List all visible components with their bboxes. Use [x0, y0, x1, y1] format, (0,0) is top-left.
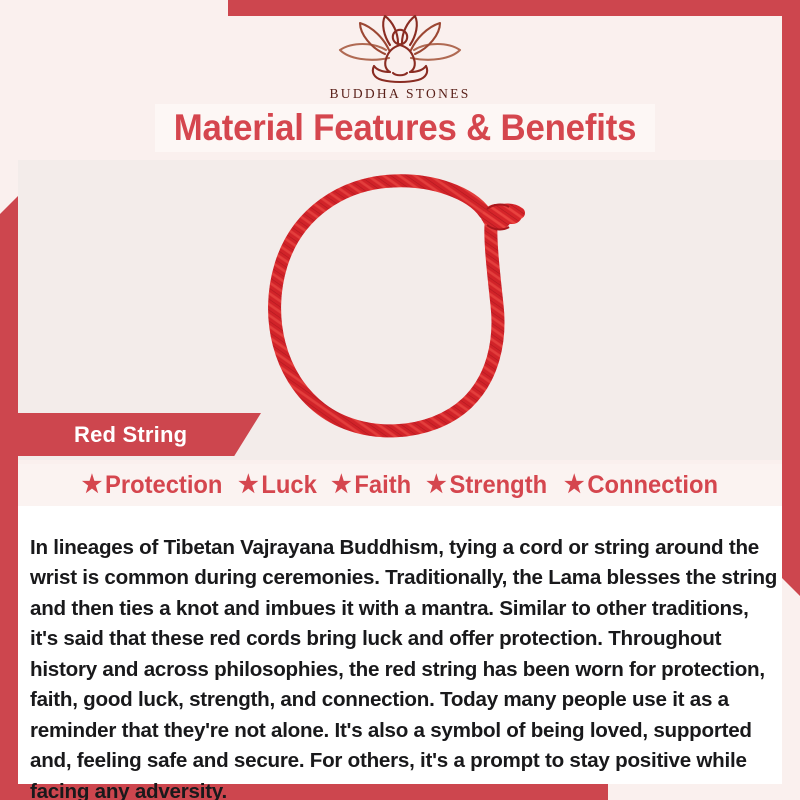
description-panel: In lineages of Tibetan Vajrayana Buddhis… [18, 506, 782, 784]
star-icon: ★ [331, 473, 351, 497]
benefit-label: Faith [354, 471, 411, 500]
benefit-item-strength: ★ Strength [426, 471, 547, 500]
infographic-page: BUDDHA STONES Material Features & Benefi… [0, 0, 800, 800]
benefit-label: Connection [588, 471, 719, 500]
star-icon: ★ [426, 473, 446, 497]
brand-name: BUDDHA STONES [0, 86, 800, 102]
star-icon: ★ [81, 473, 101, 497]
benefit-item-luck: ★ Luck [238, 471, 317, 500]
benefit-label: Luck [261, 471, 316, 500]
material-name: Red String [74, 422, 187, 448]
red-braided-bracelet-icon [235, 165, 565, 455]
star-icon: ★ [238, 473, 258, 497]
star-icon: ★ [564, 473, 584, 497]
description-text: In lineages of Tibetan Vajrayana Buddhis… [30, 533, 778, 800]
benefit-list: ★ Protection ★ Luck ★ Faith ★ Strength ★… [18, 464, 782, 506]
page-title: Material Features & Benefits [174, 107, 636, 149]
lotus-meditation-figure-icon [327, 14, 473, 84]
benefit-item-faith: ★ Faith [331, 471, 411, 500]
benefit-label: Protection [105, 471, 222, 500]
brand-logo: BUDDHA STONES [0, 14, 800, 102]
title-band: Material Features & Benefits [155, 104, 655, 152]
decorative-left-strip [0, 196, 18, 784]
material-ribbon: Red String [18, 413, 261, 456]
benefit-item-connection: ★ Connection [564, 471, 718, 500]
benefit-item-protection: ★ Protection [81, 471, 222, 500]
bracelet-knot [482, 204, 522, 230]
benefit-label: Strength [449, 471, 547, 500]
